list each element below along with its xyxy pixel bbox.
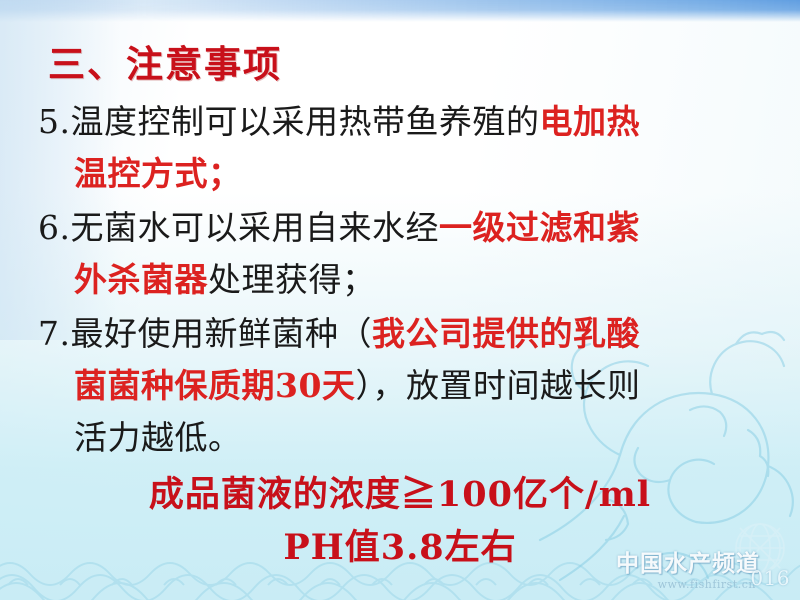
slide-canvas: 三、注意事项 5.温度控制可以采用热带鱼养殖的电加热 温控方式； 6.无菌水可以… [0, 0, 800, 600]
list-item-text-red-cont: 外杀菌器 [74, 260, 208, 299]
list-item-text-black: 温度控制可以采用热带鱼养殖的 [71, 102, 540, 141]
list-item-text-red: 电加热 [540, 102, 641, 141]
list-item-text-red: 我公司提供的乳酸 [372, 314, 640, 353]
list-item-number: 7. [38, 314, 71, 353]
list-item-text-black-cont: ），放置时间越长则 [355, 366, 640, 405]
list-item-text-red: 一级过滤和紫 [439, 208, 640, 247]
list-item: 7.最好使用新鲜菌种（我公司提供的乳酸 菌菌种保质期30天），放置时间越长则 活… [38, 308, 780, 464]
list-item-text-black: 最好使用新鲜菌种（ [71, 314, 373, 353]
list-item: 5.温度控制可以采用热带鱼养殖的电加热 温控方式； [38, 96, 780, 200]
top-gradient-band [0, 0, 800, 22]
list-item-number: 5. [38, 102, 71, 141]
callout-ph-value: PH值3.8左右 [0, 519, 800, 570]
list-item-text-black-cont2: 活力越低。 [74, 418, 242, 457]
list-item-number: 6. [38, 208, 71, 247]
list-item-text-black-cont: 处理获得； [208, 260, 376, 299]
notice-list: 5.温度控制可以采用热带鱼养殖的电加热 温控方式； 6.无菌水可以采用自来水经一… [38, 96, 780, 466]
list-item-text-red-cont: 菌菌种保质期30天 [74, 366, 355, 405]
list-item-text-black: 无菌水可以采用自来水经 [71, 208, 440, 247]
page-title: 三、注意事项 [48, 34, 282, 88]
callout-concentration: 成品菌液的浓度≧100亿个/ml [0, 466, 800, 517]
list-item: 6.无菌水可以采用自来水经一级过滤和紫 外杀菌器处理获得； [38, 202, 780, 306]
list-item-text-red-cont: 温控方式； [74, 154, 242, 193]
watermark-url: www.fishfirst.cn [658, 578, 756, 591]
